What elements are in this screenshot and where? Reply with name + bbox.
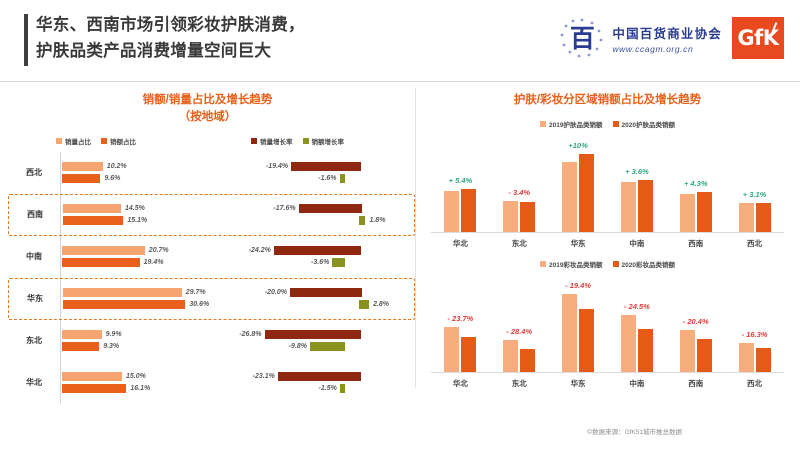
bar-line: 2.8% [231, 300, 414, 309]
bar-2020 [756, 203, 771, 233]
share-bar [63, 204, 121, 213]
growth-bars: -23.1%-1.5% [230, 372, 415, 393]
legend-growth: 销量增长率销额增长率 [251, 136, 344, 146]
x-axis-tick-label: 华东 [549, 238, 608, 249]
title-accent-bar [24, 14, 28, 66]
bar-value-label: 29.7% [186, 289, 206, 296]
table-row: 东北9.9%9.3%-26.8%-9.8% [8, 320, 415, 362]
bar-value-label: 1.8% [369, 217, 385, 224]
bar-2020 [638, 329, 653, 372]
bar-line: 16.1% [62, 384, 230, 393]
right-chart-title-main: 护肤/彩妆分区域销额占比及增长趋势 [514, 94, 701, 106]
bar-2020 [579, 309, 594, 372]
x-axis-tick-label: 华北 [431, 378, 490, 389]
growth-rate-label: - 23.7% [447, 314, 473, 323]
bar-line: 9.6% [62, 174, 230, 183]
x-axis-tick-label: 西南 [666, 378, 725, 389]
bar-2020 [697, 339, 712, 372]
legend-cosmetics-item[interactable]: 2020彩妆品类销额 [613, 259, 675, 269]
bar-line: 15.1% [63, 216, 231, 225]
region-label: 西北 [8, 167, 60, 178]
legend-share-item[interactable]: 销额占比 [101, 136, 136, 146]
x-axis-tick-label: 华东 [549, 378, 608, 389]
slide-header: 华东、西南市场引领彩妆护肤消费， 护肤品类产品消费增量空间巨大 [0, 0, 800, 82]
growth-rate-label: + 3.6% [625, 167, 649, 176]
bar-value-label: 30.6% [189, 301, 209, 308]
bar-line: 29.7% [63, 288, 231, 297]
left-chart-panel: 销额/销量占比及增长趋势 （按地域） 销量占比销额占比 销量增长率销额增长率 西… [0, 82, 415, 450]
cosmetics-chart-block: 2019彩妆品类销额2020彩妆品类销额 - 23.7%- 28.4%- 19.… [415, 259, 800, 389]
share-bar [62, 258, 140, 267]
bar-value-label: 9.9% [106, 331, 122, 338]
bar-group: + 3.6% [607, 129, 666, 232]
table-row: 华北15.0%16.1%-23.1%-1.5% [8, 362, 415, 404]
bar-2019 [621, 182, 636, 232]
x-axis-tick-label: 中南 [607, 238, 666, 249]
left-chart-title: 销额/销量占比及增长趋势 （按地域） [0, 92, 415, 127]
bar-2020 [461, 337, 476, 372]
cosmetics-plot: - 23.7%- 28.4%- 19.4%- 24.5%- 20.4%- 16.… [431, 269, 784, 373]
growth-volume-bar [291, 162, 361, 171]
legend-swatch-icon [101, 138, 107, 144]
growth-value-bar [340, 174, 346, 183]
growth-bars: -17.6%1.8% [231, 204, 414, 225]
bar-group: - 19.4% [549, 269, 608, 372]
growth-rate-label: + 3.1% [743, 190, 767, 199]
bar-line: -1.6% [230, 174, 415, 183]
bar-group: - 20.4% [666, 269, 725, 372]
bar-line: 9.9% [62, 330, 230, 339]
legend-share-label: 销量占比 [65, 136, 91, 146]
legend-swatch-icon [303, 138, 309, 144]
bar-value-label: -24.2% [230, 247, 271, 254]
bar-2020 [579, 154, 594, 232]
bar-value-label: 9.3% [103, 343, 119, 350]
growth-bars: -26.8%-9.8% [230, 330, 415, 351]
growth-volume-bar [274, 246, 361, 255]
legend-skincare: 2019护肤品类销额2020护肤品类销额 [431, 119, 784, 129]
logo-area: 百 中国百货商业协会 www.ccagm.org.cn GfK [559, 14, 784, 62]
left-chart-legends: 销量占比销额占比 销量增长率销额增长率 [0, 136, 415, 146]
bar-2020 [756, 348, 771, 373]
x-axis-tick-label: 东北 [490, 378, 549, 389]
legend-cosmetics-item[interactable]: 2019彩妆品类销额 [540, 259, 602, 269]
bar-group: + 5.4% [431, 129, 490, 232]
skincare-plot: + 5.4%- 3.4%+10%+ 3.6%+ 4.3%+ 3.1% [431, 129, 784, 233]
bar-value-label: -3.6% [311, 259, 329, 266]
growth-rate-label: - 24.5% [624, 302, 650, 311]
x-axis-tick-label: 华北 [431, 238, 490, 249]
bar-2019 [739, 203, 754, 232]
bar-2019 [444, 191, 459, 232]
table-row: 西北10.2%9.6%-19.4%-1.6% [8, 152, 415, 194]
growth-bars: -20.0%2.8% [231, 288, 414, 309]
bar-value-label: 20.7% [149, 247, 169, 254]
bar-group: - 16.3% [725, 269, 784, 372]
legend-share: 销量占比销额占比 [56, 136, 136, 146]
bar-2020 [520, 349, 535, 372]
bar-value-label: -1.5% [319, 385, 337, 392]
growth-value-bar [340, 384, 345, 393]
legend-swatch-icon [56, 138, 62, 144]
growth-rate-label: +10% [568, 141, 587, 150]
legend-swatch-icon [540, 261, 546, 267]
share-bar [62, 372, 122, 381]
bar-value-label: -17.6% [231, 205, 296, 212]
share-bars: 20.7%19.4% [60, 246, 230, 267]
bar-2019 [680, 330, 695, 372]
left-chart-title-sub: （按地域） [0, 109, 415, 126]
region-label: 中南 [8, 251, 60, 262]
bar-2019 [503, 340, 518, 372]
bar-2020 [697, 192, 712, 232]
growth-rate-label: - 16.3% [742, 330, 768, 339]
bar-value-label: -20.0% [231, 289, 287, 296]
bar-group: - 23.7% [431, 269, 490, 372]
bar-2019 [621, 315, 636, 372]
share-bars: 15.0%16.1% [60, 372, 230, 393]
bar-value-label: 10.2% [107, 163, 127, 170]
x-axis-tick-label: 西南 [666, 238, 725, 249]
legend-share-item[interactable]: 销量占比 [56, 136, 91, 146]
right-chart-panel: 护肤/彩妆分区域销额占比及增长趋势 2019护肤品类销额2020护肤品类销额 +… [415, 82, 800, 450]
table-row: 西南14.5%15.1%-17.6%1.8% [8, 194, 415, 236]
bar-line: 14.5% [63, 204, 231, 213]
bar-value-label: 15.0% [126, 373, 146, 380]
growth-rate-label: - 28.4% [506, 327, 532, 336]
bar-line: 9.3% [62, 342, 230, 351]
share-bar [63, 300, 185, 309]
share-bar [63, 216, 123, 225]
growth-bars: -24.2%-3.6% [230, 246, 415, 267]
bar-line: -9.8% [230, 342, 415, 351]
bar-2020 [461, 189, 476, 233]
association-name: 中国百货商业协会 [612, 23, 722, 42]
growth-rate-label: - 20.4% [683, 317, 709, 326]
bar-value-label: 9.6% [104, 175, 120, 182]
growth-volume-bar [299, 204, 362, 213]
table-row: 华东29.7%30.6%-20.0%2.8% [8, 278, 415, 320]
skincare-x-axis: 华北东北华东中南西南西北 [431, 238, 784, 249]
share-bar [63, 288, 182, 297]
growth-bars: -19.4%-1.6% [230, 162, 415, 183]
bar-2019 [503, 201, 518, 233]
bar-line: 15.0% [62, 372, 230, 381]
bar-line: -19.4% [230, 162, 415, 171]
bar-line: 19.4% [62, 258, 230, 267]
bar-value-label: 15.1% [127, 217, 147, 224]
bar-value-label: -23.1% [230, 373, 275, 380]
legend-swatch-icon [613, 121, 619, 127]
legend-swatch-icon [540, 121, 546, 127]
slide-body: 销额/销量占比及增长趋势 （按地域） 销量占比销额占比 销量增长率销额增长率 西… [0, 82, 800, 450]
gfk-logo: GfK [732, 17, 784, 59]
bar-group: - 28.4% [490, 269, 549, 372]
legend-share-label: 销额占比 [110, 136, 136, 146]
page-title-line-2: 护肤品类产品消费增量空间巨大 [36, 39, 506, 65]
growth-volume-bar [278, 372, 361, 381]
region-label: 华北 [8, 377, 60, 388]
bar-value-label: 19.4% [144, 259, 164, 266]
growth-value-bar [332, 258, 345, 267]
legend-swatch-icon [251, 138, 257, 144]
bar-line: -1.5% [230, 384, 415, 393]
bar-line: 1.8% [231, 216, 414, 225]
growth-value-bar [310, 342, 345, 351]
legend-skincare-item[interactable]: 2020护肤品类销额 [613, 119, 675, 129]
bar-line: -26.8% [230, 330, 415, 339]
growth-volume-bar [290, 288, 362, 297]
bar-value-label: -19.4% [230, 163, 288, 170]
bar-2019 [562, 162, 577, 233]
bar-2020 [520, 202, 535, 233]
bar-line: -20.0% [231, 288, 414, 297]
legend-cosmetics: 2019彩妆品类销额2020彩妆品类销额 [431, 259, 784, 269]
page-title-line-1: 华东、西南市场引领彩妆护肤消费， [36, 13, 506, 39]
bar-value-label: 14.5% [125, 205, 145, 212]
bar-line: -3.6% [230, 258, 415, 267]
region-label: 西南 [9, 209, 61, 220]
bar-value-label: -9.8% [289, 343, 307, 350]
association-url: www.ccagm.org.cn [612, 44, 722, 54]
ccagm-emblem-icon: 百 [559, 16, 605, 60]
share-bar [62, 330, 102, 339]
bar-group: - 3.4% [490, 129, 549, 232]
share-bars: 14.5%15.1% [61, 204, 231, 225]
bar-value-label: -26.8% [230, 331, 262, 338]
share-bars: 10.2%9.6% [60, 162, 230, 183]
growth-value-bar [359, 216, 365, 225]
bar-value-label: -1.6% [318, 175, 336, 182]
bar-line: 20.7% [62, 246, 230, 255]
growth-rate-label: + 4.3% [684, 179, 708, 188]
legend-growth-item[interactable]: 销额增长率 [303, 136, 345, 146]
x-axis-tick-label: 东北 [490, 238, 549, 249]
bar-value-label: 16.1% [130, 385, 150, 392]
share-bar [62, 174, 100, 183]
source-note: ©数据来源：GfK51城市推总数据 [587, 426, 682, 436]
right-chart-title: 护肤/彩妆分区域销额占比及增长趋势 [415, 92, 800, 109]
bar-line: -17.6% [231, 204, 414, 213]
bar-line: 30.6% [63, 300, 231, 309]
legend-growth-label: 销量增长率 [260, 136, 293, 146]
bar-2019 [680, 194, 695, 232]
left-chart-title-main: 销额/销量占比及增长趋势 [143, 94, 273, 106]
cosmetics-x-axis: 华北东北华东中南西南西北 [431, 378, 784, 389]
slide-root: 华东、西南市场引领彩妆护肤消费， 护肤品类产品消费增量空间巨大 [0, 0, 800, 450]
legend-growth-item[interactable]: 销量增长率 [251, 136, 293, 146]
bar-2019 [444, 327, 459, 373]
table-row: 中南20.7%19.4%-24.2%-3.6% [8, 236, 415, 278]
region-label: 华东 [9, 293, 61, 304]
bar-2019 [739, 343, 754, 372]
legend-skincare-label: 2019护肤品类销额 [549, 119, 602, 129]
bar-group: +10% [549, 129, 608, 232]
growth-volume-bar [265, 330, 361, 339]
share-bar [62, 246, 145, 255]
bar-value-label: 2.8% [373, 301, 389, 308]
legend-growth-label: 销额增长率 [312, 136, 345, 146]
growth-rate-label: + 5.4% [449, 176, 473, 185]
x-axis-tick-label: 西北 [725, 378, 784, 389]
legend-skincare-item[interactable]: 2019护肤品类销额 [540, 119, 602, 129]
share-bars: 9.9%9.3% [60, 330, 230, 351]
skincare-chart-block: 2019护肤品类销额2020护肤品类销额 + 5.4%- 3.4%+10%+ 3… [415, 119, 800, 249]
share-bars: 29.7%30.6% [61, 288, 231, 309]
growth-rate-label: - 3.4% [508, 188, 530, 197]
page-title: 华东、西南市场引领彩妆护肤消费， 护肤品类产品消费增量空间巨大 [36, 13, 506, 64]
bar-2019 [562, 294, 577, 372]
legend-skincare-label: 2020护肤品类销额 [622, 119, 675, 129]
bar-line: -24.2% [230, 246, 415, 255]
bar-group: + 3.1% [725, 129, 784, 232]
share-bar [62, 342, 99, 351]
bar-line: 10.2% [62, 162, 230, 171]
region-share-growth-chart: 西北10.2%9.6%-19.4%-1.6%西南14.5%15.1%-17.6%… [0, 152, 415, 404]
bar-2020 [638, 180, 653, 232]
bar-line: -23.1% [230, 372, 415, 381]
legend-cosmetics-label: 2019彩妆品类销额 [549, 259, 602, 269]
share-bar [62, 162, 103, 171]
legend-swatch-icon [613, 261, 619, 267]
legend-cosmetics-label: 2020彩妆品类销额 [622, 259, 675, 269]
emblem-dot-ring-icon [559, 16, 605, 60]
share-bar [62, 384, 126, 393]
association-text-block: 中国百货商业协会 www.ccagm.org.cn [612, 23, 722, 54]
growth-value-bar [359, 300, 369, 309]
x-axis-tick-label: 西北 [725, 238, 784, 249]
growth-rate-label: - 19.4% [565, 281, 591, 290]
bar-group: + 4.3% [666, 129, 725, 232]
region-label: 东北 [8, 335, 60, 346]
bar-group: - 24.5% [607, 269, 666, 372]
x-axis-tick-label: 中南 [607, 378, 666, 389]
